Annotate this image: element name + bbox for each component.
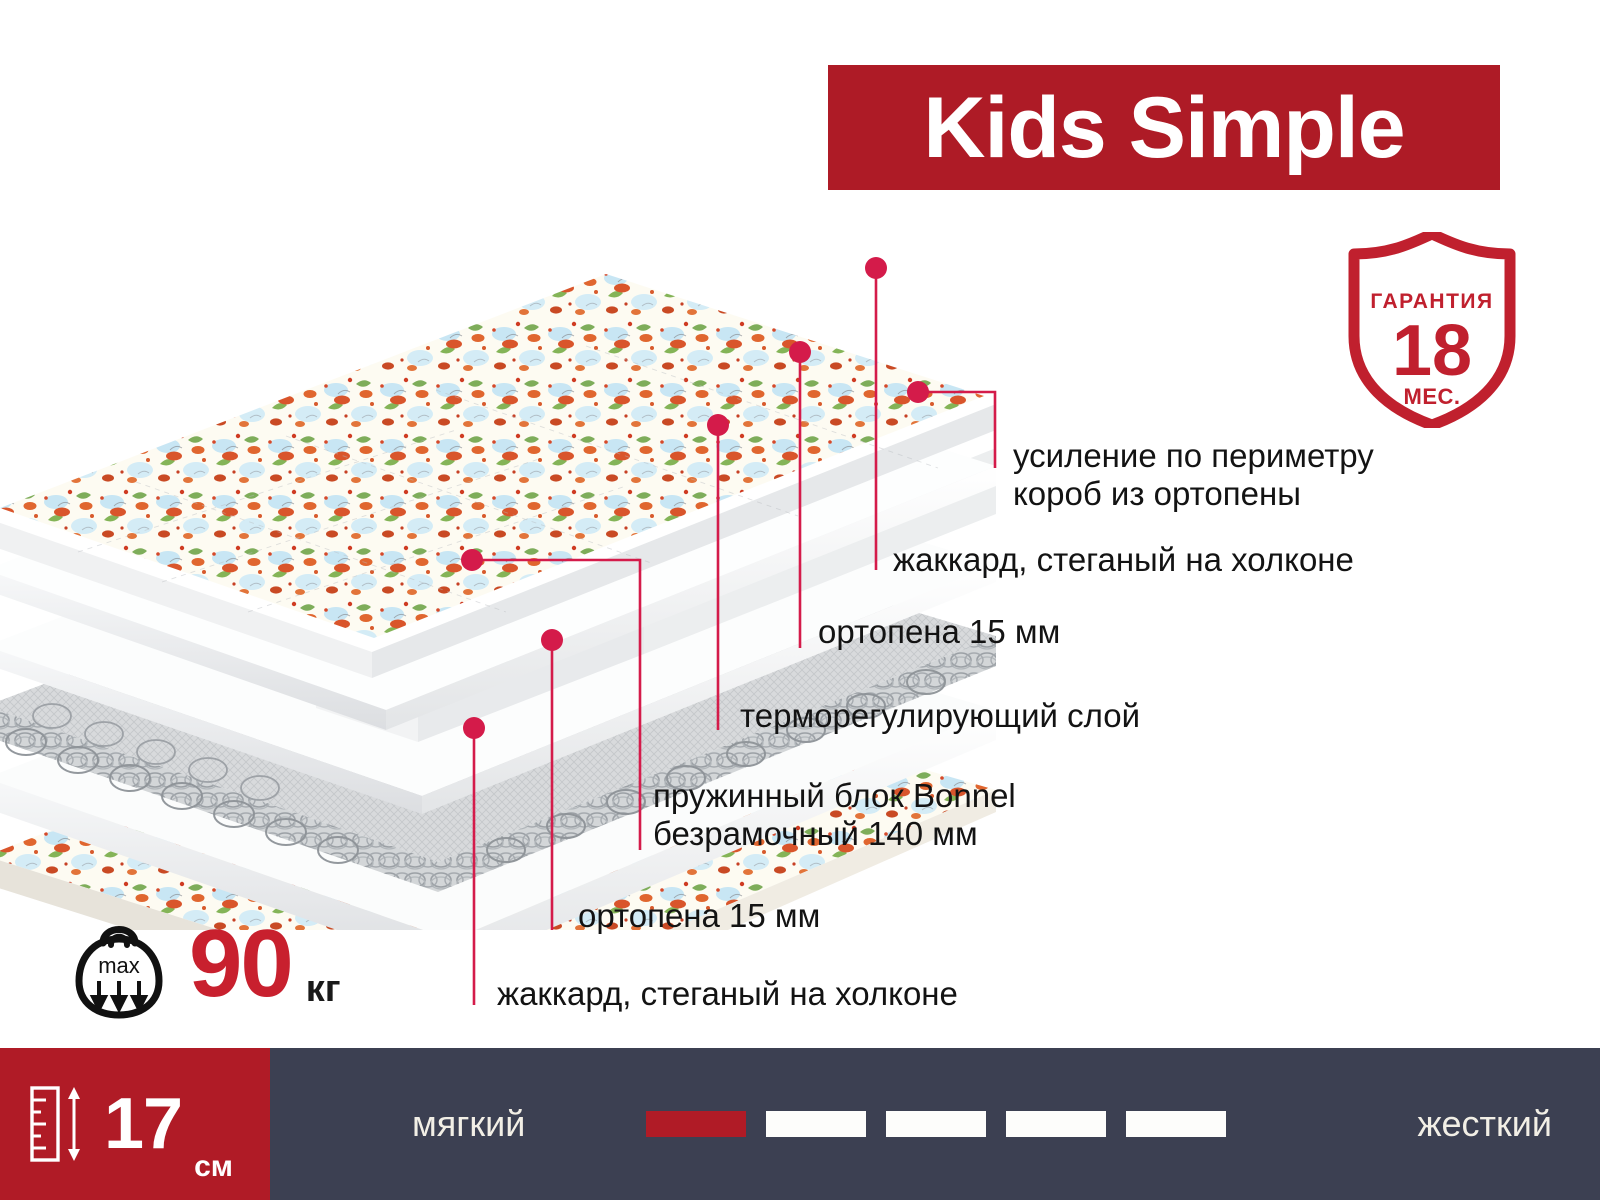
callout-bonnel-line2: безрамочный 140 мм	[653, 815, 1213, 853]
callout-perimeter-line2: короб из ортопены	[1013, 475, 1533, 513]
mattress-height-unit: см	[194, 1150, 233, 1200]
firmness-segment-5	[1126, 1111, 1226, 1137]
callout-jacquard-top-line1: жаккард, стеганый на холконе	[893, 541, 1553, 579]
warranty-label: ГАРАНТИЯ	[1370, 290, 1493, 313]
callout-orthofoam-bottom-line1: ортопена 15 мм	[578, 897, 998, 935]
ruler-icon	[28, 1085, 88, 1163]
firmness-hard-label: жесткий	[1417, 1103, 1552, 1145]
firmness-segment-2	[766, 1111, 866, 1137]
kettlebell-icon: max	[75, 909, 163, 1019]
callout-label-orthofoam-top: ортопена 15 мм	[818, 613, 1238, 651]
firmness-segment-1	[646, 1111, 746, 1137]
max-weight-unit: кг	[306, 968, 341, 1023]
firmness-segment-4	[1006, 1111, 1106, 1137]
max-weight-badge: max 90 кг	[75, 905, 405, 1023]
firmness-scale	[646, 1111, 1226, 1137]
firmness-scale-block: мягкий жесткий	[270, 1048, 1600, 1200]
callout-label-thermo: терморегулирующий слой	[740, 697, 1320, 735]
firmness-segment-3	[886, 1111, 986, 1137]
max-weight-value: 90	[189, 916, 292, 1012]
kettlebell-max-text: max	[98, 953, 140, 978]
callout-label-bonnel: пружинный блок Bonnel безрамочный 140 мм	[653, 777, 1213, 852]
callout-perimeter-line1: усиление по периметру	[1013, 437, 1533, 475]
callout-label-jacquard-bottom: жаккард, стеганый на холконе	[497, 975, 1197, 1013]
warranty-shield-badge: ГАРАНТИЯ 18 МЕС.	[1344, 232, 1520, 428]
mattress-height-value: 17	[104, 1088, 182, 1160]
firmness-soft-label: мягкий	[412, 1103, 525, 1145]
callout-orthofoam-top-line1: ортопена 15 мм	[818, 613, 1238, 651]
callout-jacquard-bottom-line1: жаккард, стеганый на холконе	[497, 975, 1197, 1013]
spec-bottom-bar: 17 см мягкий жесткий	[0, 1048, 1600, 1200]
callout-label-perimeter: усиление по периметру короб из ортопены	[1013, 437, 1533, 512]
mattress-height-block: 17 см	[0, 1048, 270, 1200]
callout-thermo-line1: терморегулирующий слой	[740, 697, 1320, 735]
callout-label-jacquard-top: жаккард, стеганый на холконе	[893, 541, 1553, 579]
warranty-unit: МЕС.	[1404, 384, 1461, 409]
callout-bonnel-line1: пружинный блок Bonnel	[653, 777, 1213, 815]
warranty-number: 18	[1392, 311, 1472, 391]
callout-label-orthofoam-bottom: ортопена 15 мм	[578, 897, 998, 935]
